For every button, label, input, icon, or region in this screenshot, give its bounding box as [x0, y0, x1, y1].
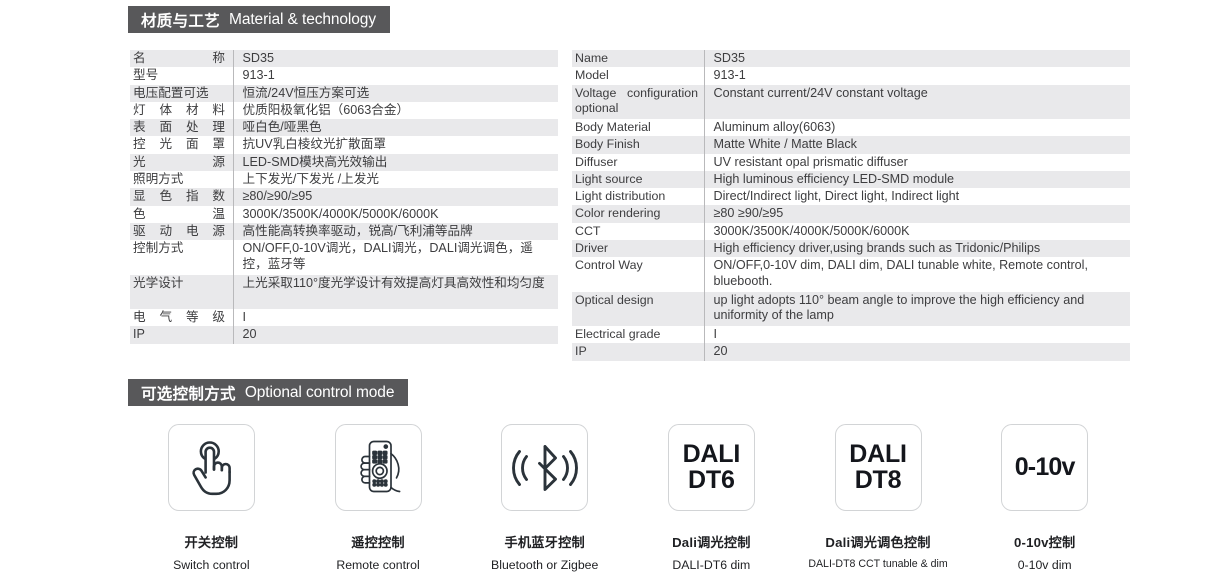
spec-row: Body MaterialAluminum alloy(6063) — [572, 119, 1130, 136]
control-mode-caption-cn: Dali调光控制 — [672, 532, 751, 551]
spec-row: 型号913-1 — [130, 67, 558, 84]
spec-row: 电压配置可选恒流/24V恒压方案可选 — [130, 85, 558, 102]
control-mode-caption-cn: 遥控控制 — [351, 532, 405, 551]
spec-row-label: Driver — [572, 240, 704, 257]
spec-label-text: 电气等级 — [133, 310, 225, 325]
spec-label-text: IP — [575, 344, 698, 359]
spec-row: 灯体材料优质阳极氧化铝（6063合金） — [130, 102, 558, 119]
spec-label-text: Body Finish — [575, 137, 698, 152]
spec-row: Optical designup light adopts 110° beam … — [572, 292, 1130, 326]
spec-row: Control WayON/OFF,0-10V dim, DALI dim, D… — [572, 257, 1130, 291]
spec-row-value: 上下发光/下发光 /上发光 — [233, 171, 558, 188]
spec-label-text: Control Way — [575, 258, 698, 273]
spec-row: Body FinishMatte White / Matte Black — [572, 136, 1130, 153]
remote-control-icon[interactable] — [335, 424, 422, 511]
spec-row-label: Body Material — [572, 119, 704, 136]
control-mode-caption-en: DALI-DT6 dim — [672, 558, 750, 572]
spec-label-text: Voltage configuration optional — [575, 86, 698, 117]
spec-row-value: UV resistant opal prismatic diffuser — [704, 154, 1130, 171]
spec-row: CCT3000K/3500K/4000K/5000K/6000K — [572, 223, 1130, 240]
spec-row-value: Matte White / Matte Black — [704, 136, 1130, 153]
spec-row: 照明方式上下发光/下发光 /上发光 — [130, 171, 558, 188]
spec-row: Model913-1 — [572, 67, 1130, 84]
control-mode-item[interactable]: 手机蓝牙控制Bluetooth or Zigbee — [461, 424, 628, 572]
spec-row: Electrical gradeI — [572, 326, 1130, 343]
spec-row-value: 913-1 — [704, 67, 1130, 84]
control-mode-caption-cn: 手机蓝牙控制 — [505, 532, 585, 551]
spec-row-value: ON/OFF,0-10V调光，DALI调光，DALI调光调色，遥控，蓝牙等 — [233, 240, 558, 274]
dali-label-line1: DALI — [683, 442, 741, 468]
spec-row-value: 上光采取110°度光学设计有效提高灯具高效性和均匀度 — [233, 275, 558, 309]
spec-row-value: LED-SMD模块高光效输出 — [233, 154, 558, 171]
spec-row: IP20 — [130, 326, 558, 343]
control-mode-caption-en: Bluetooth or Zigbee — [491, 558, 598, 572]
dali-dt8-icon[interactable]: DALIDT8 — [835, 424, 922, 511]
spec-row-value: I — [704, 326, 1130, 343]
spec-row-value: 优质阳极氧化铝（6063合金） — [233, 102, 558, 119]
spec-row: 光源LED-SMD模块高光效输出 — [130, 154, 558, 171]
spec-label-text: 照明方式 — [133, 172, 183, 186]
spec-label-text: Color rendering — [575, 206, 698, 221]
control-mode-caption-cn: 开关控制 — [185, 532, 239, 551]
control-mode-caption-en: 0-10v dim — [1018, 558, 1072, 572]
spec-row-label: Optical design — [572, 292, 704, 326]
spec-row-value: High efficiency driver,using brands such… — [704, 240, 1130, 257]
control-mode-item[interactable]: DALIDT8Dali调光调色控制DALI-DT8 CCT tunable & … — [795, 424, 962, 572]
spec-row-label: Color rendering — [572, 205, 704, 222]
spec-row: 色温3000K/3500K/4000K/5000K/6000K — [130, 206, 558, 223]
spec-row-label: 电气等级 — [130, 309, 233, 326]
spec-row-label: Light distribution — [572, 188, 704, 205]
control-mode-list: 开关控制Switch control 遥控控制Remote control — [128, 424, 1128, 572]
spec-row-value: Direct/Indirect light, Direct light, Ind… — [704, 188, 1130, 205]
spec-row-value: Constant current/24V constant voltage — [704, 85, 1130, 119]
spec-label-text: 光学设计 — [133, 276, 183, 290]
spec-row: 控光面罩抗UV乳白棱纹光扩散面罩 — [130, 136, 558, 153]
dali-label-line1: DALI — [849, 442, 907, 468]
control-mode-item[interactable]: 遥控控制Remote control — [295, 424, 462, 572]
spec-row-value: 913-1 — [233, 67, 558, 84]
spec-row-label: Body Finish — [572, 136, 704, 153]
spec-row: 驱动电源高性能高转换率驱动，锐高/飞利浦等品牌 — [130, 223, 558, 240]
control-mode-item[interactable]: DALIDT6Dali调光控制DALI-DT6 dim — [628, 424, 795, 572]
spec-label-text: Body Material — [575, 120, 698, 135]
zero-ten-volt-icon[interactable]: 0-10v — [1001, 424, 1088, 511]
spec-row-label: CCT — [572, 223, 704, 240]
spec-row-value: 3000K/3500K/4000K/5000K/6000K — [233, 206, 558, 223]
dali-label: DALIDT8 — [849, 442, 907, 493]
spec-row-label: 灯体材料 — [130, 102, 233, 119]
spec-row-label: Electrical grade — [572, 326, 704, 343]
spec-row: Light distributionDirect/Indirect light,… — [572, 188, 1130, 205]
section-header-material-cn: 材质与工艺 — [141, 9, 220, 31]
spec-row-value: 20 — [233, 326, 558, 343]
spec-row-value: 恒流/24V恒压方案可选 — [233, 85, 558, 102]
spec-row: DriverHigh efficiency driver,using brand… — [572, 240, 1130, 257]
spec-row: 表面处理哑白色/哑黑色 — [130, 119, 558, 136]
spec-row-value: High luminous efficiency LED-SMD module — [704, 171, 1130, 188]
dali-label: DALIDT6 — [683, 442, 741, 493]
spec-label-text: Light source — [575, 172, 698, 187]
spec-row-label: 型号 — [130, 67, 233, 84]
spec-row-label: IP — [130, 326, 233, 343]
spec-label-text: Driver — [575, 241, 698, 256]
spec-label-text: Diffuser — [575, 155, 698, 170]
spec-row-value: 3000K/3500K/4000K/5000K/6000K — [704, 223, 1130, 240]
spec-label-text: IP — [133, 327, 145, 341]
section-header-control-en: Optional control mode — [245, 384, 395, 402]
spec-row-label: 控光面罩 — [130, 136, 233, 153]
spec-label-text: CCT — [575, 224, 698, 239]
spec-row-value: Aluminum alloy(6063) — [704, 119, 1130, 136]
control-mode-item[interactable]: 0-10v0-10v控制0-10v dim — [961, 424, 1128, 572]
spec-row: 电气等级I — [130, 309, 558, 326]
spec-row-label: 照明方式 — [130, 171, 233, 188]
section-header-material: 材质与工艺 Material & technology — [128, 6, 390, 33]
spec-row-value: 抗UV乳白棱纹光扩散面罩 — [233, 136, 558, 153]
product-spec-sheet: 材质与工艺 Material & technology 名称SD35型号913-… — [0, 0, 1215, 588]
spec-row-label: 名称 — [130, 50, 233, 67]
spec-row-label: Light source — [572, 171, 704, 188]
control-mode-caption-en: Remote control — [336, 558, 419, 572]
spec-row-value: 20 — [704, 343, 1130, 360]
spec-label-text: 型号 — [133, 68, 158, 82]
spec-row-value: SD35 — [704, 50, 1130, 67]
spec-label-text: Electrical grade — [575, 327, 698, 342]
spec-label-text: Optical design — [575, 293, 698, 308]
spec-label-text: Name — [575, 51, 698, 66]
dali-label-line2: DT8 — [849, 468, 907, 494]
spec-row: 光学设计上光采取110°度光学设计有效提高灯具高效性和均匀度 — [130, 275, 558, 309]
spec-row: 控制方式ON/OFF,0-10V调光，DALI调光，DALI调光调色，遥控，蓝牙… — [130, 240, 558, 274]
control-mode-caption-cn: 0-10v控制 — [1014, 532, 1076, 551]
spec-row-label: Voltage configuration optional — [572, 85, 704, 119]
spec-row-label: Model — [572, 67, 704, 84]
spec-row-label: Diffuser — [572, 154, 704, 171]
zero-ten-volt-label: 0-10v — [1015, 453, 1075, 482]
spec-label-text: Light distribution — [575, 189, 698, 204]
spec-row-value: ≥80/≥90/≥95 — [233, 188, 558, 205]
spec-row: 名称SD35 — [130, 50, 558, 67]
spec-table-chinese-body: 名称SD35型号913-1电压配置可选恒流/24V恒压方案可选灯体材料优质阳极氧… — [130, 50, 558, 344]
spec-label-text: 控制方式 — [133, 241, 183, 255]
spec-row-label: 光学设计 — [130, 275, 233, 309]
spec-row-value: ON/OFF,0-10V dim, DALI dim, DALI tunable… — [704, 257, 1130, 291]
spec-row: Color rendering≥80 ≥90/≥95 — [572, 205, 1130, 222]
spec-row-label: 色温 — [130, 206, 233, 223]
spec-row-label: 光源 — [130, 154, 233, 171]
spec-row: DiffuserUV resistant opal prismatic diff… — [572, 154, 1130, 171]
spec-row: NameSD35 — [572, 50, 1130, 67]
control-mode-caption-en: DALI-DT8 CCT tunable & dim — [808, 558, 947, 570]
spec-row-label: IP — [572, 343, 704, 360]
spec-label-text: 驱动电源 — [133, 224, 225, 239]
spec-table-chinese: 名称SD35型号913-1电压配置可选恒流/24V恒压方案可选灯体材料优质阳极氧… — [130, 50, 558, 344]
spec-table-english: NameSD35Model913-1Voltage configuration … — [572, 50, 1130, 361]
spec-label-text: 光源 — [133, 155, 225, 170]
spec-label-text: 控光面罩 — [133, 137, 225, 152]
spec-row-value: 高性能高转换率驱动，锐高/飞利浦等品牌 — [233, 223, 558, 240]
spec-row: Light sourceHigh luminous efficiency LED… — [572, 171, 1130, 188]
spec-row-value: up light adopts 110° beam angle to impro… — [704, 292, 1130, 326]
hand-touch-icon[interactable] — [168, 424, 255, 511]
spec-row-value: SD35 — [233, 50, 558, 67]
spec-table-english-body: NameSD35Model913-1Voltage configuration … — [572, 50, 1130, 361]
spec-label-text: 色温 — [133, 207, 225, 222]
spec-label-text: 灯体材料 — [133, 103, 225, 118]
control-mode-item[interactable]: 开关控制Switch control — [128, 424, 295, 572]
section-header-control-cn: 可选控制方式 — [141, 382, 236, 404]
spec-row-label: 显色指数 — [130, 188, 233, 205]
spec-row: 显色指数≥80/≥90/≥95 — [130, 188, 558, 205]
spec-row-value: ≥80 ≥90/≥95 — [704, 205, 1130, 222]
spec-row: Voltage configuration optionalConstant c… — [572, 85, 1130, 119]
spec-row: IP20 — [572, 343, 1130, 360]
spec-row-value: 哑白色/哑黑色 — [233, 119, 558, 136]
section-header-control-mode: 可选控制方式 Optional control mode — [128, 379, 408, 406]
spec-label-text: 表面处理 — [133, 120, 225, 135]
spec-row-label: Name — [572, 50, 704, 67]
spec-row-label: 电压配置可选 — [130, 85, 233, 102]
control-mode-caption-en: Switch control — [173, 558, 250, 572]
spec-label-text: 显色指数 — [133, 189, 225, 204]
section-header-material-en: Material & technology — [229, 11, 376, 29]
spec-row-value: I — [233, 309, 558, 326]
spec-row-label: 控制方式 — [130, 240, 233, 274]
spec-label-text: Model — [575, 68, 698, 83]
spec-row-label: 驱动电源 — [130, 223, 233, 240]
control-mode-caption-cn: Dali调光调色控制 — [825, 532, 930, 551]
bluetooth-wireless-icon[interactable] — [501, 424, 588, 511]
spec-label-text: 电压配置可选 — [133, 86, 209, 100]
spec-row-label: Control Way — [572, 257, 704, 291]
spec-label-text: 名称 — [133, 51, 225, 66]
dali-dt6-icon[interactable]: DALIDT6 — [668, 424, 755, 511]
dali-label-line2: DT6 — [683, 468, 741, 494]
spec-row-label: 表面处理 — [130, 119, 233, 136]
